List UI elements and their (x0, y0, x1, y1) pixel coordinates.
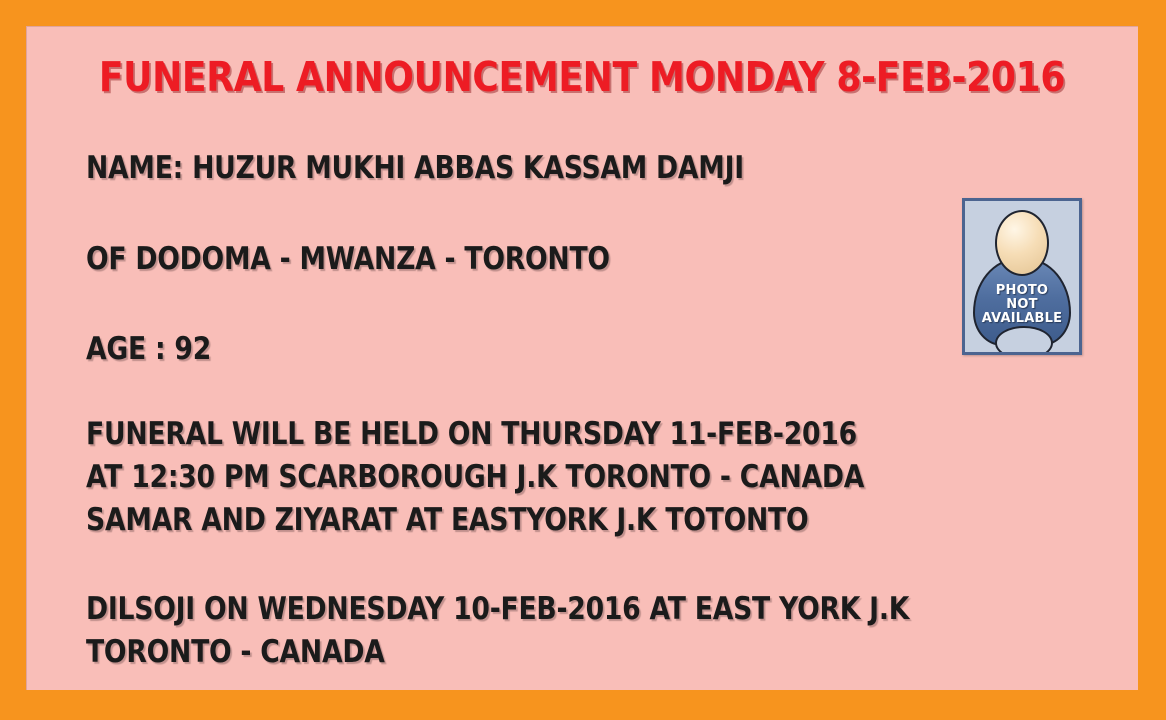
funeral-details-block: FUNERAL WILL BE HELD ON THURSDAY 11-FEB-… (86, 416, 991, 545)
deceased-age-line: AGE : 92 (86, 331, 211, 367)
page-title: FUNERAL ANNOUNCEMENT MONDAY 8-FEB-2016 (93, 53, 1072, 101)
dilsoji-detail-line: DILSOJI ON WEDNESDAY 10-FEB-2016 AT EAST… (86, 591, 909, 627)
deceased-origin-line: OF DODOMA - MWANZA - TORONTO (86, 241, 610, 277)
funeral-detail-line: AT 12:30 PM SCARBOROUGH J.K TORONTO - CA… (86, 459, 864, 495)
photo-not-available-box: PHOTO NOT AVAILABLE (962, 198, 1082, 355)
poster-card: FUNERAL ANNOUNCEMENT MONDAY 8-FEB-2016 N… (26, 26, 1138, 690)
photo-label-line-1: PHOTO (965, 284, 1079, 298)
funeral-detail-line: SAMAR AND ZIYARAT AT EASTYORK J.K TOTONT… (86, 502, 864, 538)
photo-not-available-label: PHOTO NOT AVAILABLE (965, 284, 1079, 326)
photo-label-line-3: AVAILABLE (965, 312, 1079, 326)
dilsoji-details-block: DILSOJI ON WEDNESDAY 10-FEB-2016 AT EAST… (86, 591, 1043, 677)
deceased-name-line: NAME: HUZUR MUKHI ABBAS KASSAM DAMJI (86, 150, 744, 186)
dilsoji-detail-line: TORONTO - CANADA (86, 634, 909, 670)
photo-label-line-2: NOT (965, 298, 1079, 312)
funeral-detail-line: FUNERAL WILL BE HELD ON THURSDAY 11-FEB-… (86, 416, 864, 452)
poster-outer-frame: FUNERAL ANNOUNCEMENT MONDAY 8-FEB-2016 N… (0, 0, 1166, 720)
person-silhouette-icon: PHOTO NOT AVAILABLE (965, 201, 1079, 352)
avatar-head-shape (995, 210, 1049, 276)
